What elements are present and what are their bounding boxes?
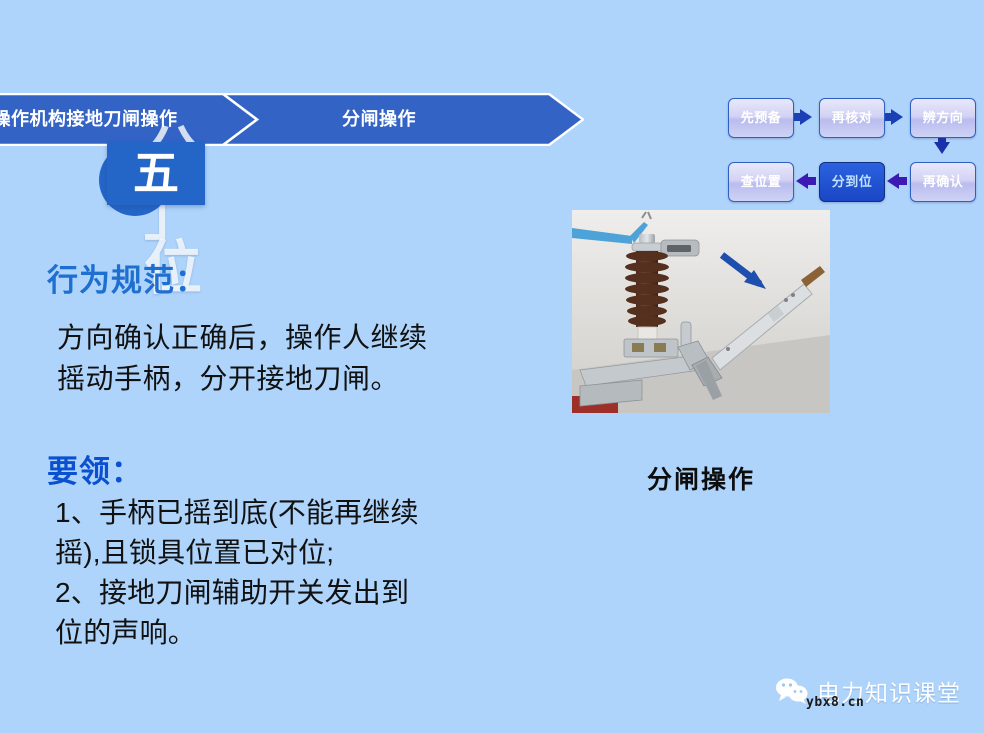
arrow-right-icon [800,109,812,125]
flow-step-fendaowei-active[interactable]: 分到位 [819,162,885,202]
behavior-norm-heading: 行为规范： [47,255,207,300]
key-body-line: 2、接地刀闸辅助开关发出到 [55,573,525,613]
badge-number-label: 五 [107,142,205,205]
flow-step-xianyubei[interactable]: 先预备 [728,98,794,138]
flow-step-chaweizhi[interactable]: 查位置 [728,162,794,202]
arrow-left-icon [887,173,899,189]
key-body-line: 摇),且锁具位置已对位; [55,533,525,573]
banner-segment-2-label: 分闸操作 [342,93,416,146]
footer-watermark: 电力知识课堂 [775,672,961,710]
site-watermark-label: ybx8.cn [806,695,864,710]
equipment-photo [572,210,830,413]
arrow-stem [808,177,816,185]
process-flowchart: 先预备 再核对 辨方向 再确认 分到位 查位置 [728,98,978,205]
key-points-heading: 要领： [47,446,143,491]
key-body-line: 1、手柄已摇到底(不能再继续 [55,493,525,533]
arrow-right-icon [891,109,903,125]
step-number-badge: 五 [107,142,205,205]
behavior-norm-body: 方向确认正确后，操作人继续 摇动手柄，分开接地刀闸。 [57,317,527,399]
arrow-left-icon [796,173,808,189]
flow-step-bianfangxiang[interactable]: 辨方向 [910,98,976,138]
flow-step-zaiqueren[interactable]: 再确认 [910,162,976,202]
norm-body-line: 摇动手柄，分开接地刀闸。 [57,358,527,399]
slide-canvas: 式操作机构接地刀闸操作 分闸操作 分 」 位 五 行为规范： 方向确认正确后，操… [0,0,984,733]
banner-segment-1-label: 式操作机构接地刀闸操作 [0,93,178,146]
section-banner: 式操作机构接地刀闸操作 分闸操作 [0,93,584,146]
flow-step-zaiheadui[interactable]: 再核对 [819,98,885,138]
arrow-down-icon [934,142,950,154]
key-points-body: 1、手柄已摇到底(不能再继续 摇),且锁具位置已对位; 2、接地刀闸辅助开关发出… [55,493,525,653]
photo-caption: 分闸操作 [572,460,830,496]
wechat-icon [775,677,809,705]
norm-body-line: 方向确认正确后，操作人继续 [57,317,527,358]
key-body-line: 位的声响。 [55,613,525,653]
arrow-stem [899,177,907,185]
equipment-photo-illustration [572,210,830,413]
